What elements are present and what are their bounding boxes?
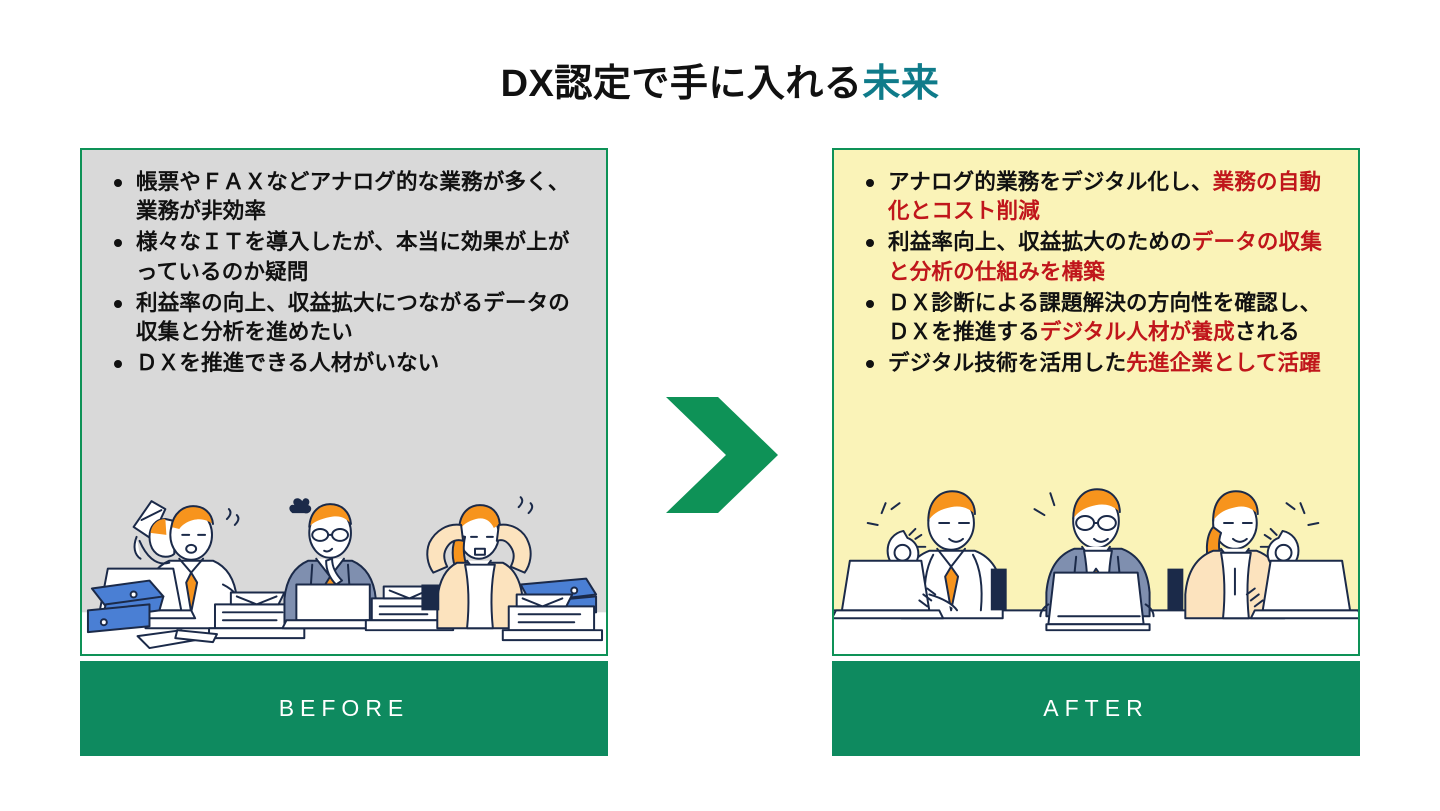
before-bullet-list: 帳票やＦＡＸなどアナログ的な業務が多く、業務が非効率様々なＩＴを導入したが、本当…	[82, 150, 606, 379]
page-title-main: DX認定で手に入れる	[501, 63, 863, 105]
highlight-text: 先進企業として活躍	[1126, 351, 1321, 375]
list-item: 利益率向上、収益拡大のためのデータの収集と分析の仕組みを構築	[862, 228, 1342, 286]
body-text: される	[1235, 320, 1300, 344]
after-bullet-list: アナログ的業務をデジタル化し、業務の自動化とコスト削減利益率向上、収益拡大のため…	[834, 150, 1358, 379]
body-text: 利益率向上、収益拡大のための	[888, 230, 1192, 254]
caption-before: BEFORE	[80, 661, 608, 756]
body-text: アナログ的業務をデジタル化し、	[888, 170, 1213, 194]
body-text: ＤＸを推進できる人材がいない	[136, 351, 439, 375]
body-text: デジタル技術を活用した	[888, 351, 1126, 375]
body-text: 帳票やＦＡＸなどアナログ的な業務が多く、業務が非効率	[136, 170, 570, 223]
page-title-accent: 未来	[862, 63, 939, 105]
caption-after-label: AFTER	[1043, 695, 1148, 722]
body-text: 様々なＩＴを導入したが、本当に効果が上がっているのか疑問	[136, 230, 570, 283]
caption-before-label: BEFORE	[279, 695, 410, 722]
highlight-text: デジタル人材が養成	[1040, 320, 1235, 344]
panel-after-box: アナログ的業務をデジタル化し、業務の自動化とコスト削減利益率向上、収益拡大のため…	[832, 148, 1360, 656]
panel-after: アナログ的業務をデジタル化し、業務の自動化とコスト削減利益率向上、収益拡大のため…	[832, 148, 1360, 656]
caption-after: AFTER	[832, 661, 1360, 756]
list-item: 利益率の向上、収益拡大につながるデータの収集と分析を進めたい	[110, 289, 590, 347]
list-item: 帳票やＦＡＸなどアナログ的な業務が多く、業務が非効率	[110, 168, 590, 226]
list-item: ＤＸ診断による課題解決の方向性を確認し、ＤＸを推進するデジタル人材が養成される	[862, 289, 1342, 347]
list-item: ＤＸを推進できる人材がいない	[110, 349, 590, 378]
after-illustration	[834, 464, 1358, 654]
list-item: 様々なＩＴを導入したが、本当に効果が上がっているのか疑問	[110, 228, 590, 286]
list-item: アナログ的業務をデジタル化し、業務の自動化とコスト削減	[862, 168, 1342, 226]
body-text: 利益率の向上、収益拡大につながるデータの収集と分析を進めたい	[136, 291, 570, 344]
page-title: DX認定で手に入れる未来	[0, 52, 1440, 107]
chevron-right-icon	[656, 385, 796, 525]
list-item: デジタル技術を活用した先進企業として活躍	[862, 349, 1342, 378]
panel-before: 帳票やＦＡＸなどアナログ的な業務が多く、業務が非効率様々なＩＴを導入したが、本当…	[80, 148, 608, 656]
panel-before-box: 帳票やＦＡＸなどアナログ的な業務が多く、業務が非効率様々なＩＴを導入したが、本当…	[80, 148, 608, 656]
before-illustration	[82, 464, 606, 654]
